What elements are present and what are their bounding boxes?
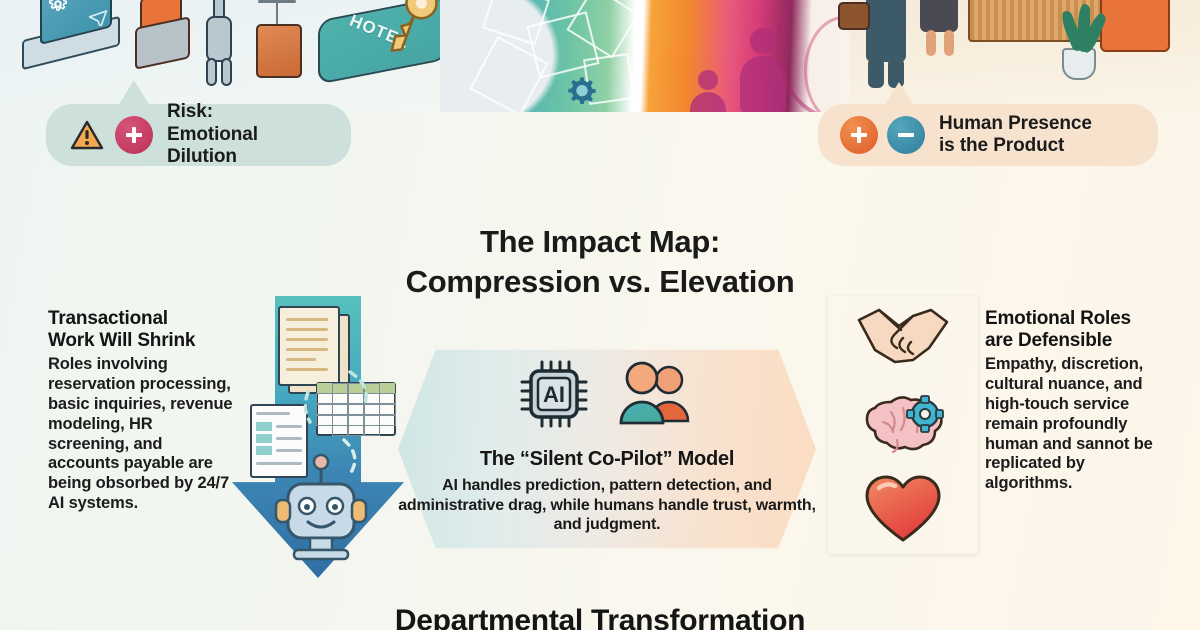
gear-icon bbox=[562, 74, 602, 112]
center-text-block: The “Silent Co-Pilot” Model AI handles p… bbox=[398, 448, 816, 535]
left-column-heading: Transactional Work Will Shrink bbox=[48, 308, 234, 352]
callout-line2: is the Product bbox=[939, 135, 1092, 157]
warning-triangle-icon bbox=[68, 116, 106, 154]
robot-torso bbox=[206, 16, 232, 62]
business-traveler-icon bbox=[866, 0, 906, 62]
leg bbox=[926, 30, 936, 56]
right-heading-line2: are Defensible bbox=[985, 330, 1165, 352]
potted-plant-icon bbox=[1062, 48, 1096, 80]
callout-line2: Emotional Dilution bbox=[167, 124, 329, 169]
center-icons: AI bbox=[398, 358, 816, 430]
left-column-body: Roles involving reservation processing, … bbox=[48, 355, 234, 513]
handshake-icon bbox=[855, 304, 951, 370]
armchair-icon bbox=[1100, 0, 1170, 52]
right-heading-line1: Emotional Roles bbox=[985, 308, 1165, 330]
human-silhouette-body bbox=[690, 92, 726, 112]
callout-text-left: Risk: Emotional Dilution bbox=[167, 101, 329, 168]
callout-human-presence-is-the-product[interactable]: Human Presence is the Product bbox=[818, 104, 1158, 166]
report-chip bbox=[256, 434, 272, 443]
callout-tail-left bbox=[118, 80, 150, 106]
infographic-canvas: HOTEL bbox=[0, 0, 1200, 630]
gear-icon bbox=[46, 0, 70, 16]
left-heading-line2: Work Will Shrink bbox=[48, 330, 234, 352]
doc-line bbox=[286, 348, 328, 351]
emotional-roles-icon-panel bbox=[828, 296, 978, 554]
page-title: The Impact Map: Compression vs. Elevatio… bbox=[0, 222, 1200, 303]
airplane-icon bbox=[88, 6, 108, 26]
hero-illustration-band: HOTEL bbox=[0, 0, 1200, 112]
callout-icons-left bbox=[68, 116, 153, 154]
right-column: Emotional Roles are Defensible Empathy, … bbox=[985, 308, 1165, 494]
left-heading-line1: Transactional bbox=[48, 308, 234, 330]
receptionist-figure bbox=[920, 0, 958, 32]
right-column-body: Empathy, discretion, cultural nuance, an… bbox=[985, 355, 1165, 494]
callout-text-right: Human Presence is the Product bbox=[939, 113, 1092, 158]
plus-circle-icon bbox=[115, 116, 153, 154]
report-chip bbox=[256, 422, 272, 431]
center-body: AI handles prediction, pattern detection… bbox=[398, 476, 816, 535]
robot-leg bbox=[221, 58, 232, 86]
human-silhouettes-abstract bbox=[698, 70, 718, 90]
briefcase-icon bbox=[838, 2, 870, 30]
doc-line bbox=[286, 318, 328, 321]
callout-tail-right bbox=[884, 82, 914, 106]
callout-risk-emotional-dilution[interactable]: Risk: Emotional Dilution bbox=[46, 104, 351, 166]
plus-circle-icon bbox=[840, 116, 878, 154]
callout-line1: Human Presence bbox=[939, 113, 1092, 135]
doc-line bbox=[286, 358, 316, 361]
doc-line bbox=[286, 338, 328, 341]
people-group-icon bbox=[616, 359, 696, 429]
ai-chip-icon: AI bbox=[518, 358, 590, 430]
suitcase-handle-bar bbox=[258, 0, 296, 3]
doc-line bbox=[286, 328, 328, 331]
callout-line1: Risk: bbox=[167, 101, 329, 123]
hero-center-abstract bbox=[440, 0, 860, 112]
doc-line bbox=[256, 412, 290, 415]
heart-icon bbox=[863, 474, 943, 546]
center-heading: The “Silent Co-Pilot” Model bbox=[398, 448, 816, 471]
left-column: Transactional Work Will Shrink Roles inv… bbox=[48, 308, 234, 514]
leg bbox=[944, 30, 954, 56]
bottom-section-heading: Departmental Transformation bbox=[0, 604, 1200, 630]
robot-leg bbox=[206, 58, 217, 86]
callout-icons-right bbox=[840, 116, 925, 154]
right-column-heading: Emotional Roles are Defensible bbox=[985, 308, 1165, 352]
page-title-line2: Compression vs. Elevation bbox=[0, 262, 1200, 302]
traveler-leg bbox=[868, 58, 884, 88]
hero-left-scene: HOTEL bbox=[0, 0, 450, 112]
minus-circle-icon bbox=[887, 116, 925, 154]
brain-gear-icon bbox=[857, 386, 949, 458]
rolling-suitcase-icon bbox=[256, 24, 302, 78]
human-silhouette-head bbox=[750, 28, 776, 54]
page-title-line1: The Impact Map: bbox=[0, 222, 1200, 262]
ai-chip-label: AI bbox=[543, 382, 565, 407]
